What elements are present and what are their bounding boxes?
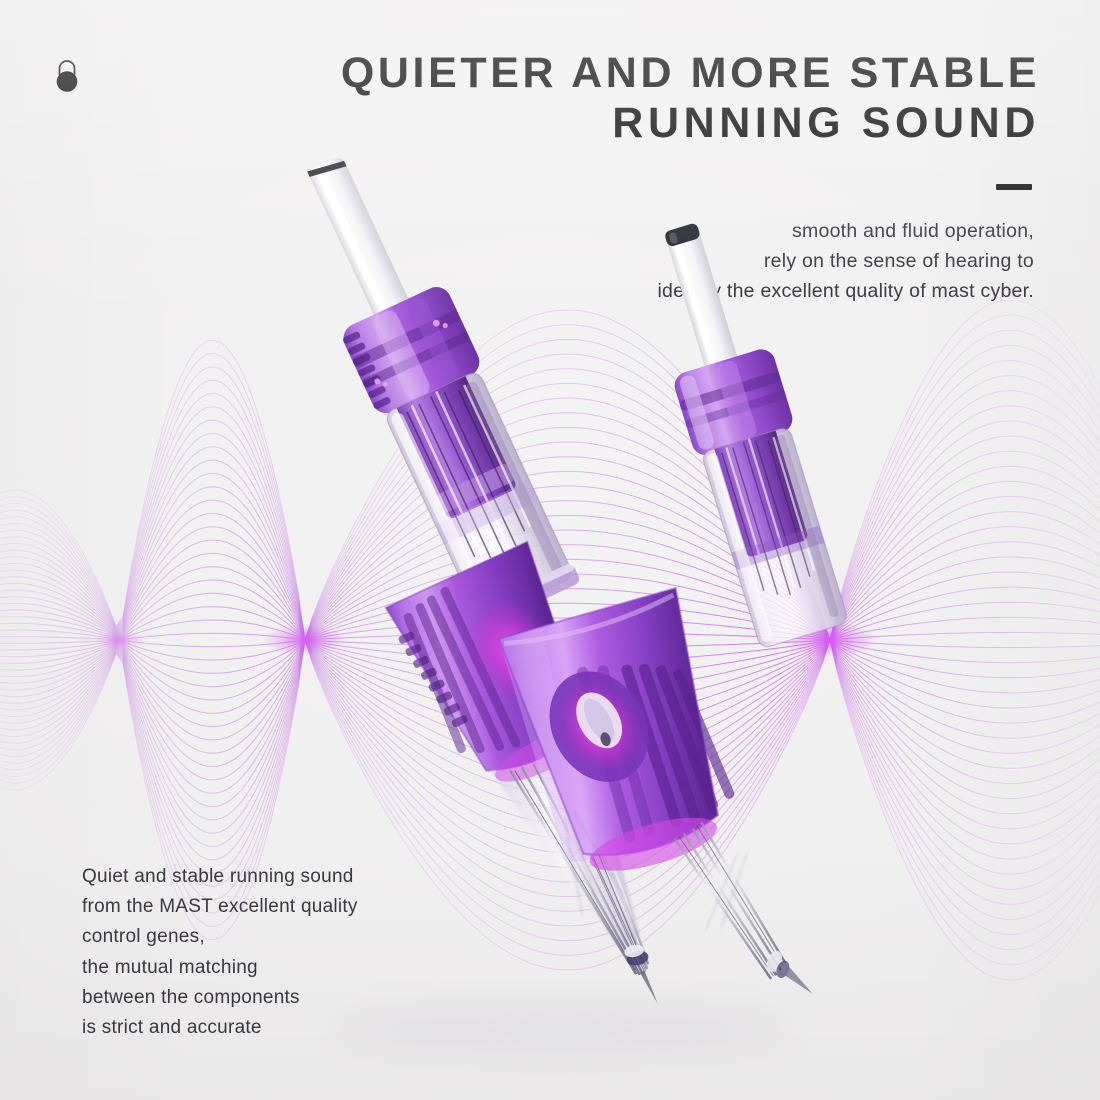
needle-bundle-right xyxy=(584,794,812,1043)
bodycopy-line-6: is strict and accurate xyxy=(82,1013,502,1043)
needle-bundle-left xyxy=(487,720,704,1027)
promo-canvas: QUIETER AND MORE STABLE RUNNING SOUND sm… xyxy=(0,0,1100,1100)
subtitle-line-1: smooth and fluid operation, xyxy=(414,216,1034,246)
grip-cone-left xyxy=(384,542,613,792)
headline-line-2: RUNNING SOUND xyxy=(340,98,1040,148)
reflection-ghost xyxy=(540,806,765,933)
subtitle-text: smooth and fluid operation, rely on the … xyxy=(414,216,1034,306)
subtitle-line-3: identify the excellent quality of mast c… xyxy=(414,276,1034,306)
grip-cone-right xyxy=(499,588,744,873)
page-title: QUIETER AND MORE STABLE RUNNING SOUND xyxy=(340,48,1040,148)
cartridge-left xyxy=(272,139,583,630)
subtitle-line-2: rely on the sense of hearing to xyxy=(414,246,1034,276)
horizontal-rule-icon xyxy=(996,184,1032,190)
bodycopy-line-5: between the components xyxy=(82,983,502,1013)
mast-lock-logo-icon xyxy=(50,54,84,100)
body-copy-text: Quiet and stable running sound from the … xyxy=(82,862,502,1043)
bodycopy-line-3: control genes, xyxy=(82,922,502,952)
headline-line-1: QUIETER AND MORE STABLE xyxy=(340,48,1040,98)
bodycopy-line-4: the mutual matching xyxy=(82,953,502,983)
bodycopy-line-2: from the MAST excellent quality xyxy=(82,892,502,922)
bodycopy-line-1: Quiet and stable running sound xyxy=(82,862,502,892)
